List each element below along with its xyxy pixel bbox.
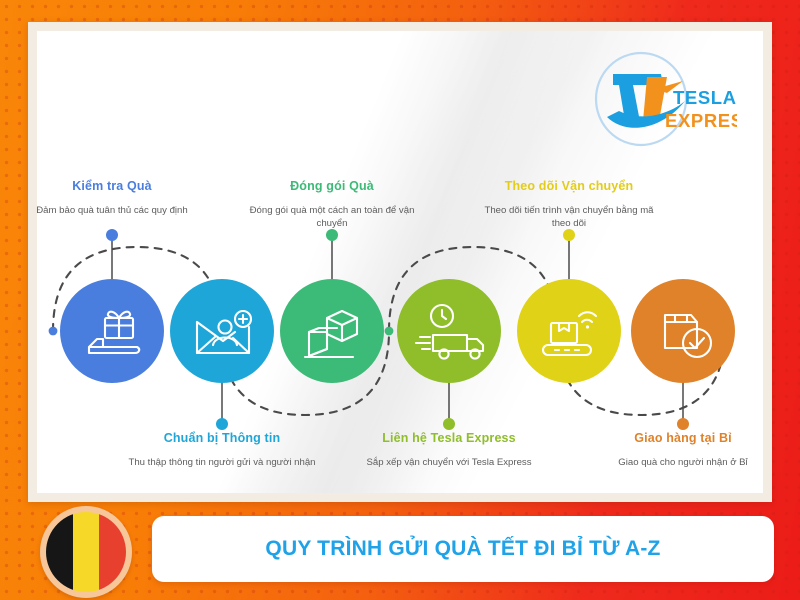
step-1-description: Đảm bảo quà tuân thủ các quy định [37, 204, 207, 218]
belgium-flag-icon [46, 512, 126, 592]
flow-dot-start [49, 327, 58, 336]
step-3-disc [280, 279, 384, 383]
step-3-description: Đóng gói quà một cách an toàn để vận chu… [237, 204, 427, 231]
step-5-description: Theo dõi tiến trình vận chuyển bằng mã t… [474, 204, 664, 231]
step-text-4: Liên hệ Tesla Express Sắp xếp vận chuyển… [354, 431, 544, 469]
step-text-6: Giao hàng tại Bỉ Giao quà cho người nhận… [588, 431, 763, 469]
infographic-stage: TESLA EXPRESS [0, 0, 800, 600]
step-circle-6[interactable] [631, 279, 735, 383]
step-4-disc [397, 279, 501, 383]
step-circle-4[interactable] [397, 279, 501, 383]
belgium-flag-badge [40, 506, 132, 598]
step-text-1: Kiểm tra Quà Đảm bảo quà tuân thủ các qu… [37, 179, 207, 217]
step-circle-2[interactable] [170, 279, 274, 383]
step-1-title: Kiểm tra Quà [37, 179, 207, 195]
flag-stripe-yellow [73, 512, 100, 592]
step-5-title: Theo dõi Vận chuyển [474, 179, 664, 195]
step-text-2: Chuẩn bị Thông tin Thu thập thông tin ng… [127, 431, 317, 469]
step-6-disc [631, 279, 735, 383]
bottom-banner: QUY TRÌNH GỬI QUÀ TẾT ĐI BỈ TỪ A-Z [152, 516, 774, 582]
step-circle-5[interactable] [517, 279, 621, 383]
step-3-title: Đóng gói Quà [237, 179, 427, 195]
banner-title: QUY TRÌNH GỬI QUÀ TẾT ĐI BỈ TỪ A-Z [265, 537, 660, 561]
connector-dot-step-4 [443, 418, 455, 430]
card-frame: TESLA EXPRESS [28, 22, 772, 502]
connector-dot-step-1 [106, 229, 118, 241]
step-circle-1[interactable] [60, 279, 164, 383]
flow-dot-2 [385, 327, 394, 336]
step-text-5: Theo dõi Vận chuyển Theo dõi tiến trình … [474, 179, 664, 231]
step-4-description: Sắp xếp vận chuyển với Tesla Express [354, 456, 544, 470]
step-2-title: Chuẩn bị Thông tin [127, 431, 317, 447]
process-flow-diagram [37, 31, 763, 493]
step-1-disc [60, 279, 164, 383]
flag-stripe-red [99, 512, 126, 592]
infographic-card: TESLA EXPRESS [37, 31, 763, 493]
step-text-3: Đóng gói Quà Đóng gói quà một cách an to… [237, 179, 427, 231]
connector-dot-step-2 [216, 418, 228, 430]
flag-stripe-black [46, 512, 73, 592]
step-circle-3[interactable] [280, 279, 384, 383]
step-6-description: Giao quà cho người nhận ở Bỉ [588, 456, 763, 470]
step-2-description: Thu thập thông tin người gửi và người nh… [127, 456, 317, 470]
step-4-title: Liên hệ Tesla Express [354, 431, 544, 447]
step-6-title: Giao hàng tại Bỉ [588, 431, 763, 447]
connector-dot-step-6 [677, 418, 689, 430]
step-2-disc [170, 279, 274, 383]
